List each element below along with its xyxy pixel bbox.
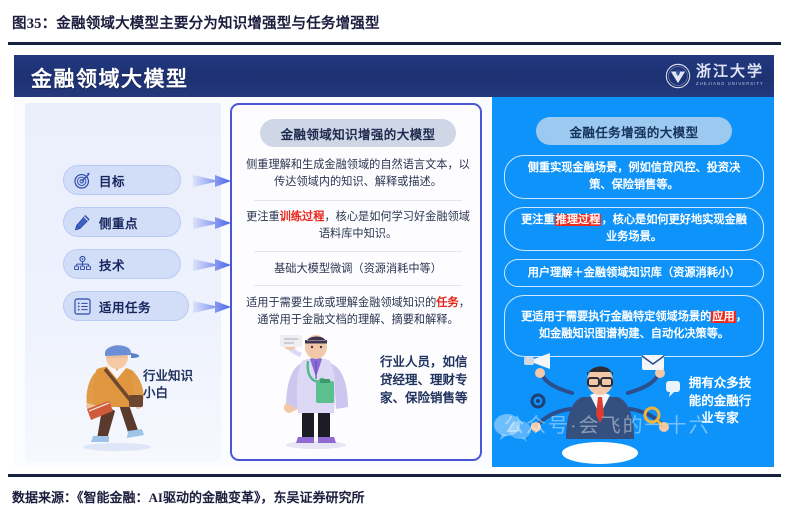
flow-arrow-icon xyxy=(193,171,233,191)
figure-header-title: 金融领域大模型 xyxy=(31,63,189,93)
right-row-text-before: 更注重 xyxy=(521,214,555,226)
middle-row-goal: 侧重理解和生成金融领域的自然语言文本，以传达领域内的知识、解释或描述。 xyxy=(242,157,474,191)
middle-title-text: 金融领域知识增强的大模型 xyxy=(281,124,436,143)
zju-emblem-icon xyxy=(665,63,691,89)
pencil-icon xyxy=(73,213,92,232)
top-rule xyxy=(8,42,781,45)
middle-row-text-before: 更注重 xyxy=(246,211,280,223)
aspect-chip-label: 侧重点 xyxy=(99,213,138,232)
middle-row-text: 侧重理解和生成金融领域的自然语言文本，以传达领域内的知识、解释或描述。 xyxy=(246,159,470,188)
right-column-title: 金融任务增强的大模型 xyxy=(536,117,732,145)
right-row-highlight: 应用 xyxy=(711,311,735,323)
bottom-rule xyxy=(8,474,781,477)
middle-row-highlight: 任务 xyxy=(436,297,458,309)
middle-column-knowledge-enhanced: 金融领域知识增强的大模型 侧重理解和生成金融领域的自然语言文本，以传达领域内的知… xyxy=(230,103,482,461)
right-row-text-after: ，核心是如何更好地实现金融业务场景。 xyxy=(601,214,746,243)
flow-arrow-icon xyxy=(193,255,233,275)
row-divider xyxy=(254,285,462,286)
aspect-chip-label: 技术 xyxy=(99,255,125,274)
professional-person-illustration xyxy=(256,333,376,451)
right-row-goal: 侧重实现金融场景，例如信贷风控、投资决策、保险销售等。 xyxy=(504,155,764,199)
right-row-tasks: 更适用于需要执行金融特定领域场景的应用，如金融知识图谱构建、自动化决策等。 xyxy=(504,295,764,357)
right-row-text: 侧重实现金融场景，例如信贷风控、投资决策、保险销售等。 xyxy=(528,162,741,191)
figure-caption: 图35：金融领域大模型主要分为知识增强型与任务增强型 xyxy=(12,12,772,38)
right-row-text: 用户理解＋金融领域知识库（资源消耗小） xyxy=(528,267,741,279)
left-column: 目标 侧重点 xyxy=(25,103,221,461)
middle-row-technology: 基础大模型微调（资源消耗中等） xyxy=(242,261,474,278)
zju-name-cn: 浙江大学 xyxy=(696,65,764,80)
right-row-focus: 更注重推理过程，核心是如何更好地实现金融业务场景。 xyxy=(504,207,764,251)
middle-row-text-after: ，核心是如何学习好金融领域语料库中知识。 xyxy=(319,211,470,240)
middle-row-tasks: 适用于需要生成或理解金融领域知识的任务，通常用于金融文档的理解、摘要和解释。 xyxy=(242,295,474,329)
figure-header-bar: 金融领域大模型 浙江大学 ZHEJIANG UNIVERSITY xyxy=(14,55,774,97)
aspect-chip-goal[interactable]: 目标 xyxy=(63,165,181,195)
middle-row-text: 基础大模型微调（资源消耗中等） xyxy=(274,263,442,275)
figure-container: 金融领域大模型 浙江大学 ZHEJIANG UNIVERSITY xyxy=(14,55,774,467)
zju-name-en: ZHEJIANG UNIVERSITY xyxy=(696,82,764,86)
left-persona-label: 行业知识小白 xyxy=(143,368,205,402)
zhejiang-university-logo: 浙江大学 ZHEJIANG UNIVERSITY xyxy=(665,62,764,90)
aspect-chip-label: 适用任务 xyxy=(99,297,151,316)
middle-row-text-before: 适用于需要生成或理解金融领域知识的 xyxy=(246,297,436,309)
right-row-highlight: 推理过程 xyxy=(555,214,602,226)
row-divider xyxy=(254,200,462,201)
aspect-chip-tasks[interactable]: 适用任务 xyxy=(63,291,189,321)
target-icon xyxy=(73,171,92,190)
source-note: 数据来源：《智能金融：AI驱动的金融变革》，东吴证券研究所 xyxy=(12,487,772,511)
middle-row-focus: 更注重训练过程，核心是如何学习好金融领域语料库中知识。 xyxy=(242,209,474,243)
right-column-task-enhanced: 金融任务增强的大模型 侧重实现金融场景，例如信贷风控、投资决策、保险销售等。 更… xyxy=(492,97,774,467)
figure-body: 目标 侧重点 xyxy=(14,97,774,467)
middle-column-title: 金融领域知识增强的大模型 xyxy=(260,119,456,147)
right-row-text-before: 更适用于需要执行金融特定领域场景的 xyxy=(521,311,711,323)
aspect-chip-focus[interactable]: 侧重点 xyxy=(63,207,181,237)
hierarchy-icon xyxy=(73,255,92,274)
figure-page: 图35：金融领域大模型主要分为知识增强型与任务增强型 金融领域大模型 浙江大学 … xyxy=(0,0,789,518)
aspect-chip-label: 目标 xyxy=(99,171,125,190)
flow-arrow-icon xyxy=(193,213,233,233)
right-title-text: 金融任务增强的大模型 xyxy=(569,122,698,141)
row-divider xyxy=(254,251,462,252)
aspect-chip-technology[interactable]: 技术 xyxy=(63,249,181,279)
middle-row-highlight: 训练过程 xyxy=(280,211,325,223)
right-row-technology: 用户理解＋金融领域知识库（资源消耗小） xyxy=(504,259,764,287)
checklist-icon xyxy=(73,297,92,316)
middle-persona-label: 行业人员，如信贷经理、理财专家、保险销售等 xyxy=(380,353,472,407)
zju-wordmark: 浙江大学 ZHEJIANG UNIVERSITY xyxy=(696,65,764,86)
flow-arrow-icon xyxy=(193,297,233,317)
watermark-text: 公众号·会飞的一十六 xyxy=(504,409,774,438)
